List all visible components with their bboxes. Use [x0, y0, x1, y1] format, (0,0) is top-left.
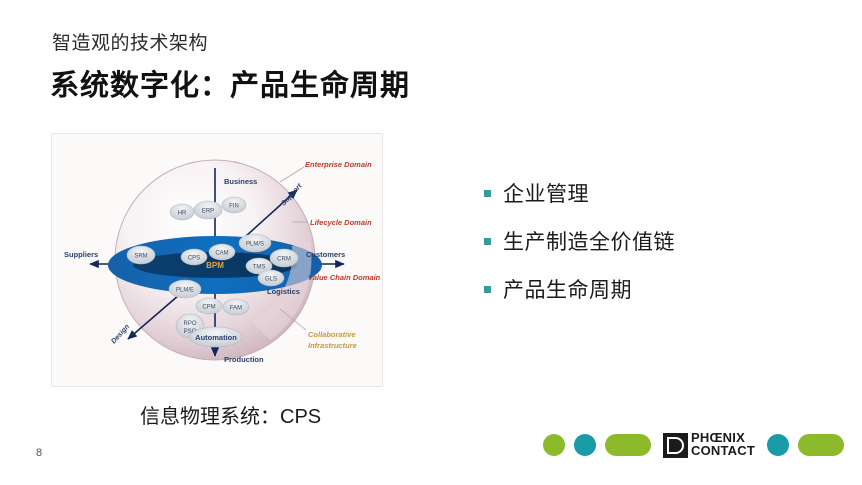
label-suppliers: Suppliers	[64, 250, 98, 259]
list-item: 生产制造全价值链	[484, 226, 814, 256]
brand-dot-green	[543, 434, 565, 456]
list-item-label: 生产制造全价值链	[503, 226, 675, 256]
page-number: 8	[36, 447, 42, 459]
svg-text:GLS: GLS	[265, 277, 277, 283]
square-bullet-icon	[484, 190, 491, 197]
svg-text:Automation: Automation	[195, 333, 237, 342]
figure-caption: 信息物理系统：CPS	[140, 400, 321, 429]
svg-text:FIN: FIN	[229, 204, 239, 210]
label-value-chain-domain: Value Chain Domain	[308, 273, 381, 282]
node-automation: Automation	[190, 327, 242, 347]
node-hr: HR	[170, 204, 194, 220]
brand-dot-teal	[574, 434, 596, 456]
label-logistics: Logistics	[267, 287, 300, 296]
architecture-diagram-image: BPM HR ERP FIN PLM/S SRM CPS CAM	[51, 133, 383, 387]
node-erp: ERP	[194, 201, 222, 219]
square-bullet-icon	[484, 238, 491, 245]
node-gls: GLS	[258, 270, 284, 286]
svg-text:TMS: TMS	[253, 265, 266, 271]
brand-wordmark: PHŒNIX CONTACT	[691, 432, 755, 457]
list-item-label: 企业管理	[503, 178, 589, 208]
svg-text:ERP: ERP	[202, 209, 214, 215]
node-srm: SRM	[127, 246, 155, 264]
svg-text:PLM/S: PLM/S	[246, 242, 264, 248]
brand-footer: PHŒNIX CONTACT	[543, 430, 844, 460]
diagram-svg: BPM HR ERP FIN PLM/S SRM CPS CAM	[52, 134, 382, 386]
brand-pill-green-2	[798, 434, 844, 456]
svg-text:CAM: CAM	[215, 251, 228, 257]
page-title: 系统数字化：产品生命周期	[50, 62, 410, 104]
svg-text:FAM: FAM	[230, 306, 242, 312]
list-item: 产品生命周期	[484, 274, 814, 304]
label-customers: Customers	[306, 250, 345, 259]
svg-text:HR: HR	[178, 211, 187, 217]
svg-text:RPO: RPO	[183, 321, 196, 327]
svg-text:CPS: CPS	[188, 256, 200, 262]
label-business: Business	[224, 177, 257, 186]
svg-text:CPM: CPM	[202, 305, 215, 311]
label-collaborative-infrastructure-2: Infrastructure	[308, 341, 357, 350]
bullet-list: 企业管理 生产制造全价值链 产品生命周期	[484, 178, 814, 322]
node-fam: FAM	[223, 299, 249, 315]
list-item-label: 产品生命周期	[503, 274, 632, 304]
svg-text:CRM: CRM	[277, 257, 291, 263]
phoenix-mark-icon	[663, 433, 688, 458]
node-cpm: CPM	[196, 298, 222, 314]
node-cps: CPS	[181, 249, 207, 265]
brand-wordmark-line2: CONTACT	[691, 445, 755, 458]
label-production: Production	[224, 355, 264, 364]
node-plms: PLM/S	[239, 234, 271, 252]
svg-text:SRM: SRM	[134, 254, 147, 260]
node-plme: PLM/E	[169, 280, 201, 298]
node-fin: FIN	[222, 197, 246, 213]
label-lifecycle-domain: Lifecycle Domain	[310, 218, 372, 227]
node-crm: CRM	[270, 249, 298, 267]
slide-kicker: 智造观的技术架构	[52, 28, 208, 55]
label-enterprise-domain: Enterprise Domain	[305, 160, 372, 169]
brand-dot-teal-2	[767, 434, 789, 456]
label-collaborative-infrastructure-1: Collaborative	[308, 330, 356, 339]
phoenix-contact-logo: PHŒNIX CONTACT	[663, 432, 755, 457]
node-cam: CAM	[209, 244, 235, 260]
svg-text:PLM/E: PLM/E	[176, 288, 194, 294]
list-item: 企业管理	[484, 178, 814, 208]
square-bullet-icon	[484, 286, 491, 293]
brand-pill-green	[605, 434, 651, 456]
node-bpm: BPM	[206, 261, 224, 270]
